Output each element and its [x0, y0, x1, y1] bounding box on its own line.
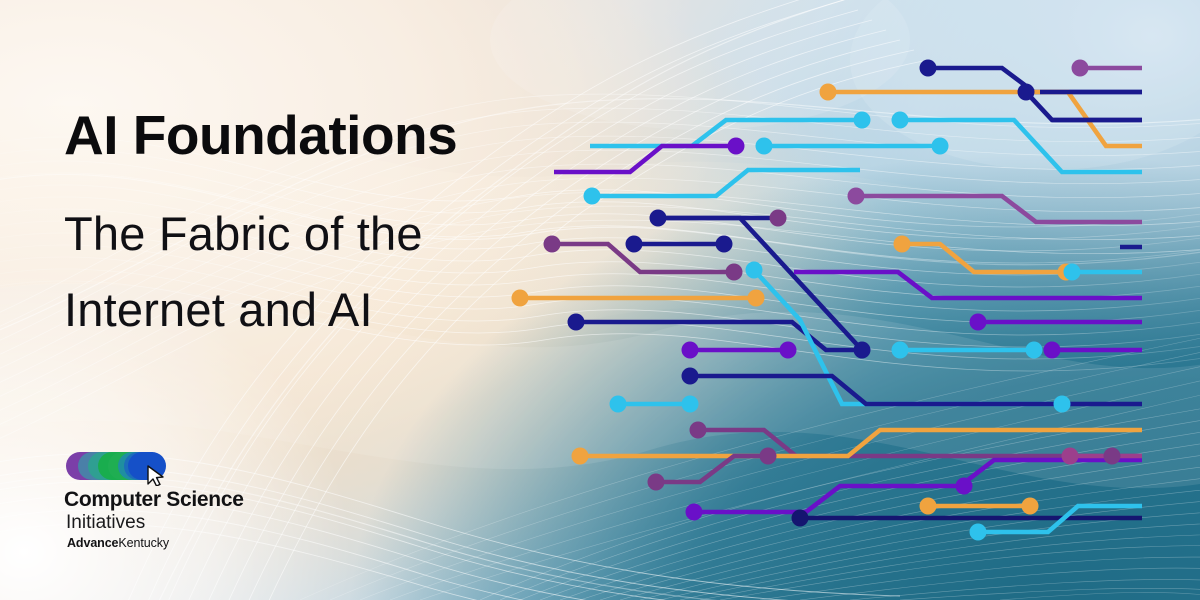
page-subtitle-line-2: Internet and AI: [64, 272, 534, 348]
page-subtitle: The Fabric of the Internet and AI: [64, 196, 534, 348]
page-subtitle-line-1: The Fabric of the: [64, 196, 534, 272]
logo-wordmark: Computer Science Initiatives AdvanceKent…: [64, 488, 264, 550]
logo: Computer Science Initiatives AdvanceKent…: [64, 446, 264, 550]
logo-line-2: Initiatives: [64, 512, 264, 534]
logo-line-1: Computer Science: [64, 488, 264, 512]
banner-graphic: AI Foundations The Fabric of the Interne…: [0, 0, 1200, 600]
page-title: AI Foundations: [64, 108, 457, 163]
logo-line-3: AdvanceKentucky: [64, 536, 264, 550]
logo-line-3-bold: Advance: [67, 536, 118, 550]
logo-mark: [64, 446, 184, 486]
logo-line-3-regular: Kentucky: [118, 536, 169, 550]
